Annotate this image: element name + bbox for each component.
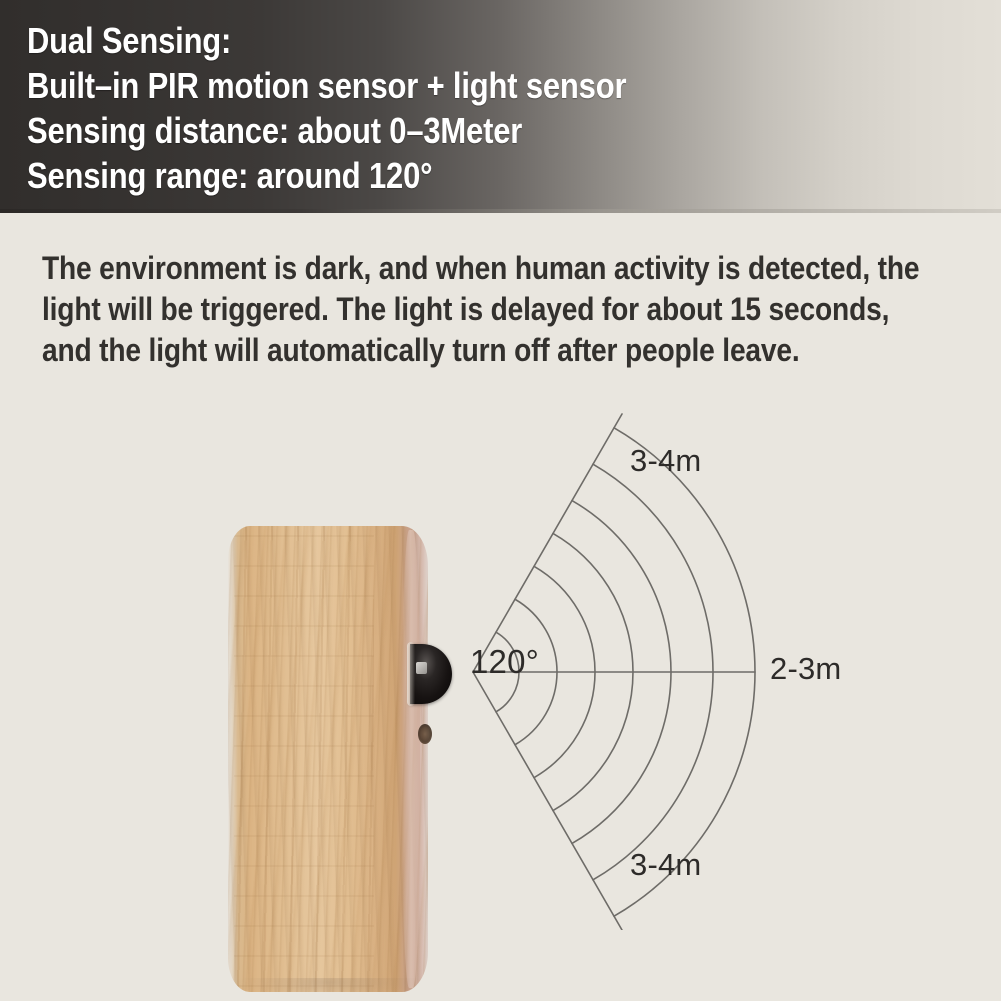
range-label-right: 2-3m	[770, 651, 841, 687]
range-label-bottom: 3-4m	[630, 847, 701, 883]
product-photo-wooden-lamp	[228, 526, 428, 992]
range-label-top: 3-4m	[630, 443, 701, 479]
description-paragraph: The environment is dark, and when human …	[42, 248, 942, 371]
product-infographic: Dual Sensing: Built–in PIR motion sensor…	[0, 0, 1001, 1001]
lamp-bottom-shadow	[238, 978, 420, 992]
description-line-3: and the light will automatically turn of…	[42, 330, 834, 371]
header-line-1: Dual Sensing:	[27, 18, 865, 63]
header-line-4: Sensing range: around 120°	[27, 153, 865, 198]
lamp-wood-body	[228, 526, 428, 992]
header-line-2: Built–in PIR motion sensor + light senso…	[27, 63, 865, 108]
angle-label: 120°	[470, 643, 539, 681]
header-line-3: Sensing distance: about 0–3Meter	[27, 108, 865, 153]
description-line-1: The environment is dark, and when human …	[42, 248, 834, 289]
lamp-edge-highlight	[402, 530, 420, 988]
description-line-2: light will be triggered. The light is de…	[42, 289, 834, 330]
header-band: Dual Sensing: Built–in PIR motion sensor…	[0, 0, 1001, 213]
detection-range-diagram: 120° 3-4m 2-3m 3-4m	[430, 385, 950, 930]
wood-grain-flecks	[234, 526, 374, 992]
